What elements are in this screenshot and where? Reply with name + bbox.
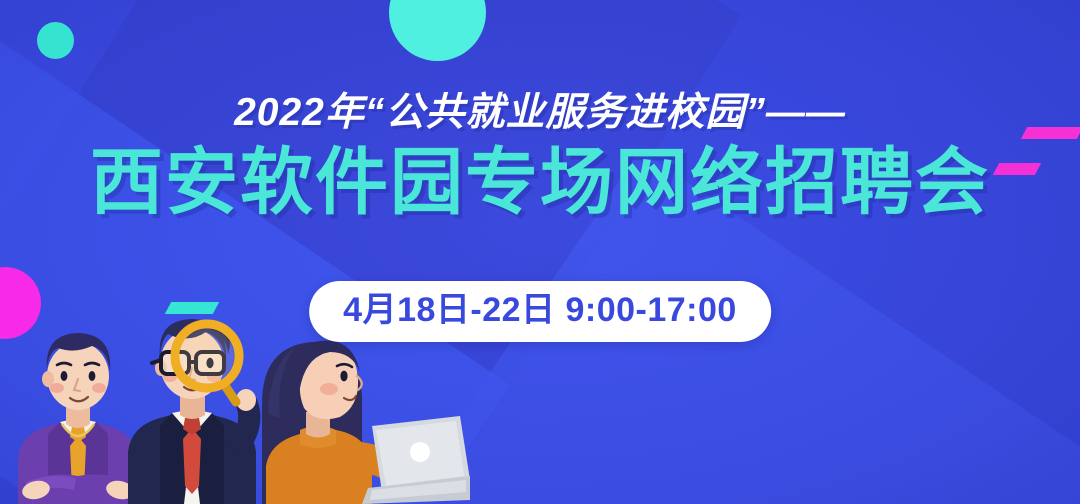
character-woman-orange-sweater: [262, 341, 470, 504]
character-man-purple-suit: [18, 333, 138, 504]
headline-block: 2022年“公共就业服务进校园”—— 西安软件园专场网络招聘会: [0, 92, 1080, 221]
decoration-circle-cyan-small: [37, 22, 74, 59]
promo-banner: 2022年“公共就业服务进校园”—— 西安软件园专场网络招聘会 4月18日-22…: [0, 0, 1080, 504]
banner-main-title: 西安软件园专场网络招聘会: [0, 146, 1080, 220]
character-man-glasses-navy-suit: [128, 319, 256, 504]
event-date-text: 4月18日-22日 9:00-17:00: [343, 291, 737, 330]
laptop-icon: [362, 416, 470, 504]
event-date-pill: 4月18日-22日 9:00-17:00: [309, 281, 771, 342]
banner-subtitle: 2022年“公共就业服务进校园”——: [0, 92, 1080, 134]
